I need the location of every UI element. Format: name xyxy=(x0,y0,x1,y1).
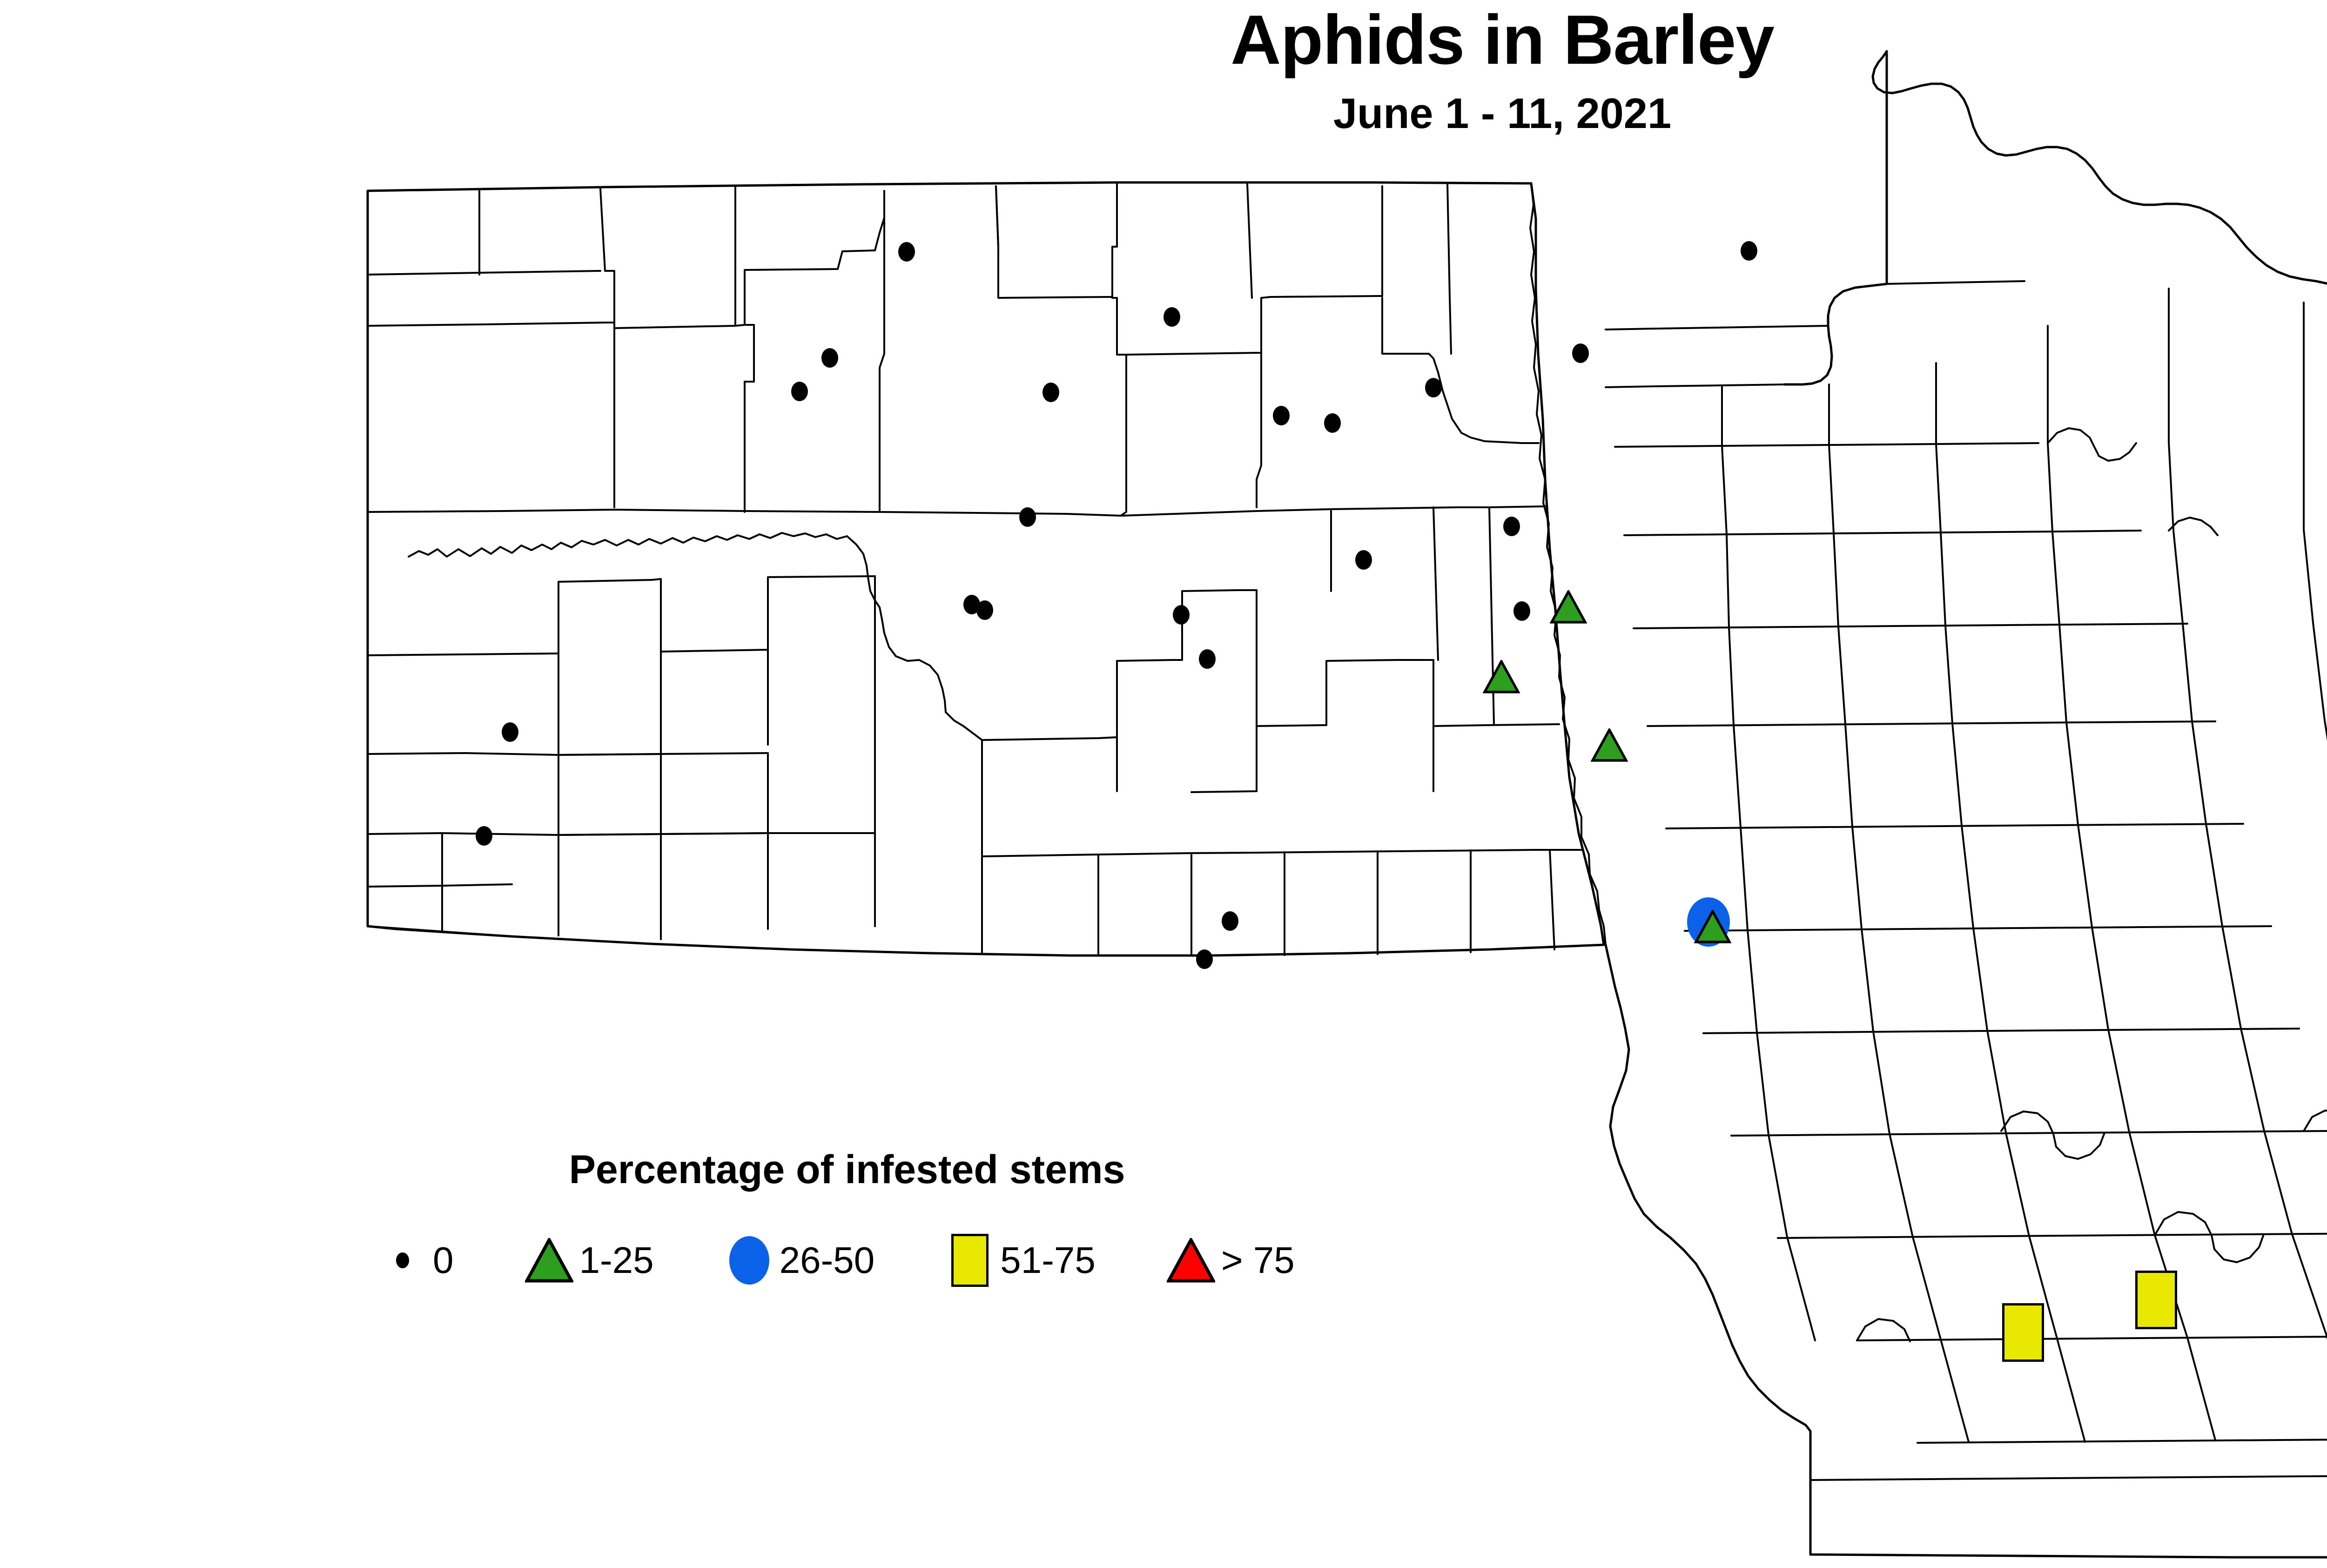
legend-item-label: > 75 xyxy=(1221,1242,1295,1279)
legend-items: 01-2526-5051-75> 75 xyxy=(377,1234,1769,1287)
map-marker-zero[interactable] xyxy=(791,382,808,401)
square-icon xyxy=(951,1234,989,1287)
map-marker-1-25[interactable] xyxy=(1483,660,1520,693)
legend-title: Percentage of infested stems xyxy=(344,1150,1350,1190)
legend-item--75[interactable]: > 75 xyxy=(1165,1238,1295,1283)
map-marker-zero[interactable] xyxy=(1273,406,1290,425)
map-marker-zero[interactable] xyxy=(502,722,518,742)
map-marker-zero[interactable] xyxy=(1222,911,1238,931)
legend-item-1-25[interactable]: 1-25 xyxy=(524,1238,654,1283)
map-marker-zero[interactable] xyxy=(1019,507,1036,527)
legend-item-26-50[interactable]: 26-50 xyxy=(724,1236,875,1285)
legend-item-label: 26-50 xyxy=(780,1242,875,1279)
triangle-icon xyxy=(1167,1238,1215,1283)
map-marker-zero[interactable] xyxy=(1572,343,1589,363)
legend: Percentage of infested stems 01-2526-505… xyxy=(344,1150,1769,1287)
map-marker-zero[interactable] xyxy=(1324,413,1341,433)
map-marker-51-75[interactable] xyxy=(2002,1303,2044,1362)
map-marker-zero[interactable] xyxy=(1513,601,1530,621)
map-marker-1-25[interactable] xyxy=(1694,910,1731,943)
map-canvas xyxy=(0,0,2327,1568)
map-marker-zero[interactable] xyxy=(1503,517,1520,536)
legend-item-label: 1-25 xyxy=(579,1242,654,1279)
state-county-map xyxy=(0,0,2327,1568)
circle-icon xyxy=(729,1236,769,1285)
triangle-icon xyxy=(525,1238,573,1283)
map-marker-zero[interactable] xyxy=(1196,949,1213,969)
map-marker-zero[interactable] xyxy=(898,242,915,262)
map-background xyxy=(0,0,2327,1568)
map-marker-1-25[interactable] xyxy=(1550,590,1587,624)
map-marker-zero[interactable] xyxy=(1042,383,1059,402)
legend-item-0[interactable]: 0 xyxy=(377,1242,454,1279)
map-marker-zero[interactable] xyxy=(1173,605,1190,625)
dot-icon xyxy=(396,1252,409,1268)
legend-item-label: 51-75 xyxy=(1000,1242,1096,1279)
map-marker-1-25[interactable] xyxy=(1591,728,1628,762)
map-marker-51-75[interactable] xyxy=(2135,1271,2177,1329)
map-marker-zero[interactable] xyxy=(1199,649,1216,669)
legend-item-label: 0 xyxy=(433,1242,454,1279)
map-marker-zero[interactable] xyxy=(976,600,993,620)
legend-item-51-75[interactable]: 51-75 xyxy=(944,1234,1096,1287)
map-marker-zero[interactable] xyxy=(1425,378,1442,397)
map-marker-zero[interactable] xyxy=(1163,307,1180,327)
map-marker-zero[interactable] xyxy=(821,348,838,368)
map-marker-zero[interactable] xyxy=(476,826,492,846)
map-marker-zero[interactable] xyxy=(1355,550,1372,570)
map-marker-zero[interactable] xyxy=(1741,241,1757,261)
